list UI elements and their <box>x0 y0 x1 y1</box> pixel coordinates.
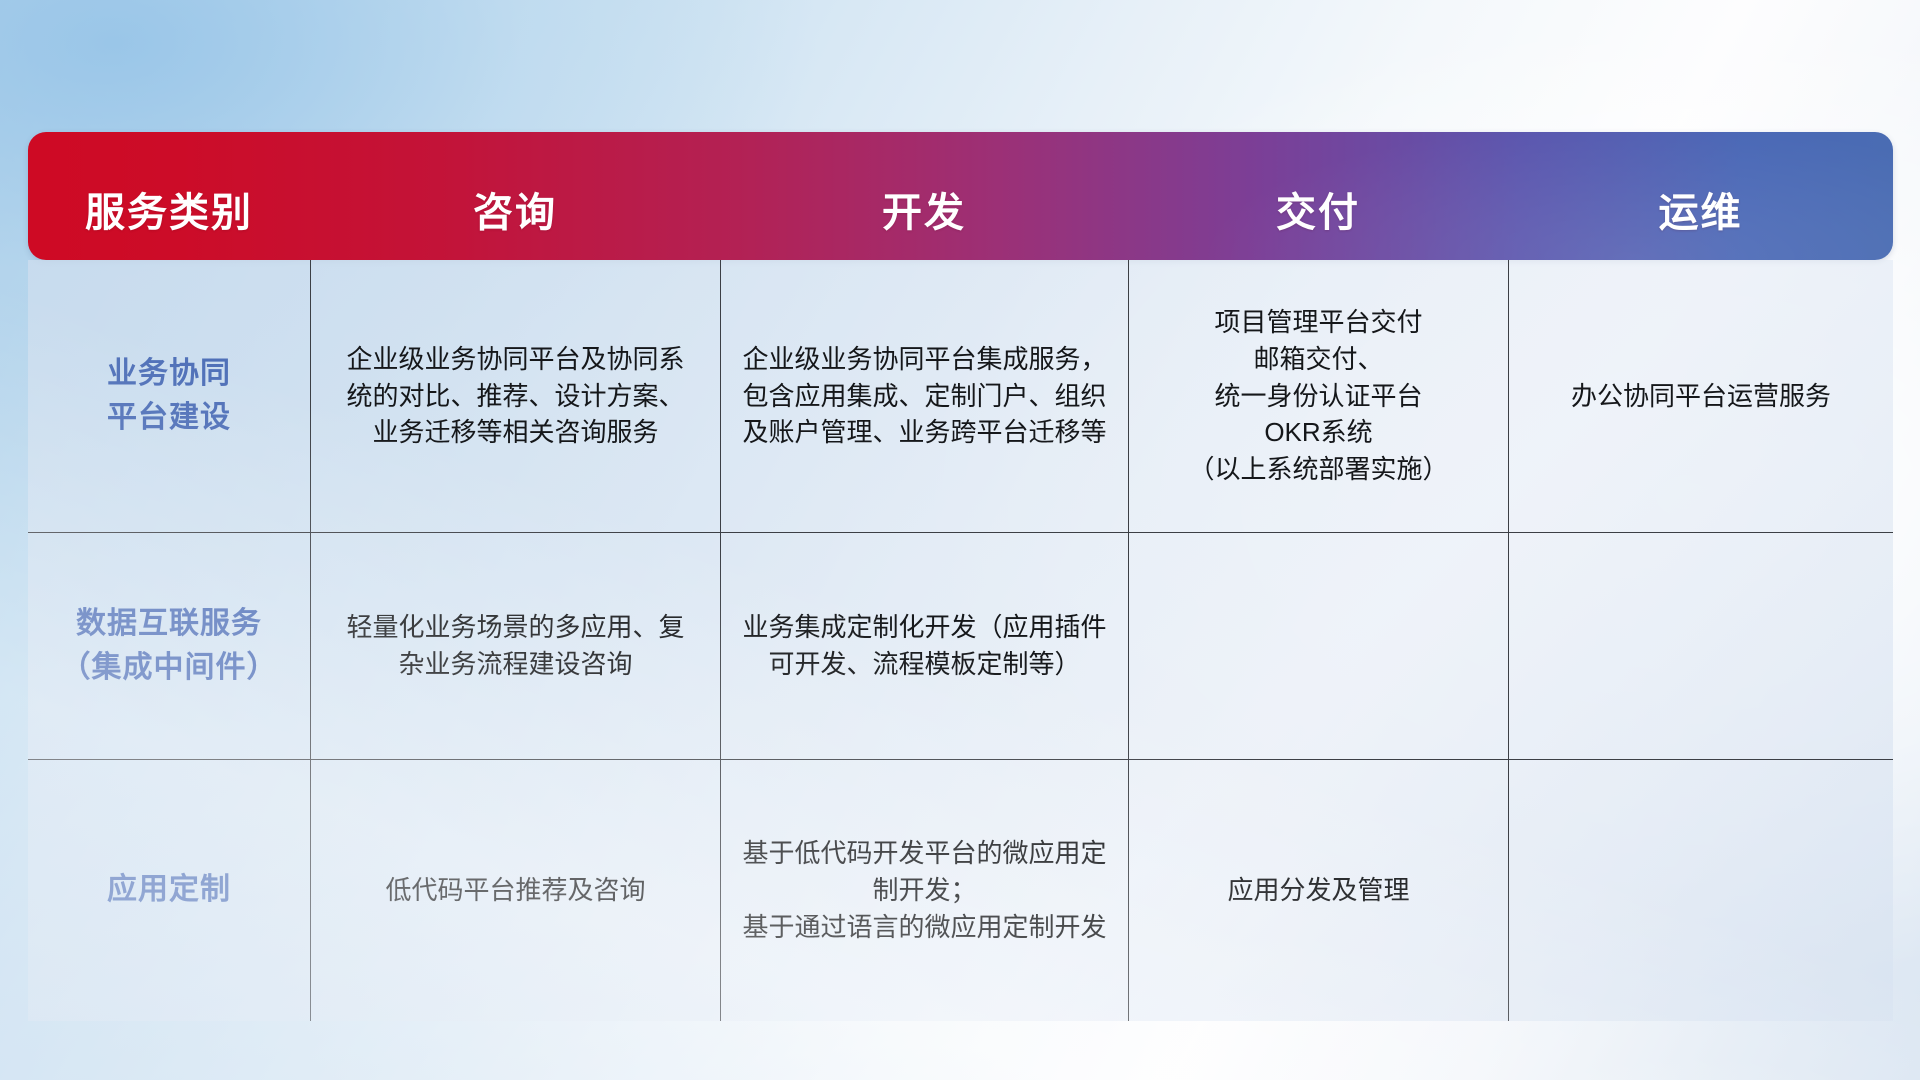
table-row: 应用定制 低代码平台推荐及咨询 基于低代码开发平台的微应用定 制开发； 基于通过… <box>28 759 1893 1021</box>
column-header-operations: 运维 <box>1508 180 1893 260</box>
cell-delivery: 项目管理平台交付 邮箱交付、 统一身份认证平台 OKR系统 （以上系统部署实施） <box>1128 260 1508 532</box>
cell-operations: 办公协同平台运营服务 <box>1508 260 1893 532</box>
column-header-development: 开发 <box>720 180 1128 260</box>
cell-development: 业务集成定制化开发（应用插件 可开发、流程模板定制等） <box>720 533 1128 759</box>
cell-category: 应用定制 <box>28 760 310 1021</box>
cell-operations <box>1508 760 1893 1021</box>
service-matrix-table: 服务类别 咨询 开发 交付 运维 业务协同 平台建设 企业级业务协同平台及协同系… <box>28 132 1893 952</box>
cell-category: 数据互联服务 （集成中间件） <box>28 533 310 759</box>
cell-development: 基于低代码开发平台的微应用定 制开发； 基于通过语言的微应用定制开发 <box>720 760 1128 1021</box>
cell-delivery: 应用分发及管理 <box>1128 760 1508 1021</box>
cell-operations <box>1508 533 1893 759</box>
cell-category: 业务协同 平台建设 <box>28 260 310 532</box>
cell-consulting: 轻量化业务场景的多应用、复 杂业务流程建设咨询 <box>310 533 720 759</box>
column-header-consulting: 咨询 <box>310 180 720 260</box>
cell-delivery <box>1128 533 1508 759</box>
cell-consulting: 低代码平台推荐及咨询 <box>310 760 720 1021</box>
table-body: 业务协同 平台建设 企业级业务协同平台及协同系 统的对比、推荐、设计方案、 业务… <box>28 260 1893 1021</box>
cell-development: 企业级业务协同平台集成服务， 包含应用集成、定制门户、组织 及账户管理、业务跨平… <box>720 260 1128 532</box>
slide-canvas: 服务类别 咨询 开发 交付 运维 业务协同 平台建设 企业级业务协同平台及协同系… <box>0 0 1920 1080</box>
table-row: 数据互联服务 （集成中间件） 轻量化业务场景的多应用、复 杂业务流程建设咨询 业… <box>28 532 1893 759</box>
table-row: 业务协同 平台建设 企业级业务协同平台及协同系 统的对比、推荐、设计方案、 业务… <box>28 260 1893 532</box>
table-header-row: 服务类别 咨询 开发 交付 运维 <box>28 132 1893 260</box>
column-header-delivery: 交付 <box>1128 180 1508 260</box>
cell-consulting: 企业级业务协同平台及协同系 统的对比、推荐、设计方案、 业务迁移等相关咨询服务 <box>310 260 720 532</box>
column-header-category: 服务类别 <box>28 180 310 260</box>
